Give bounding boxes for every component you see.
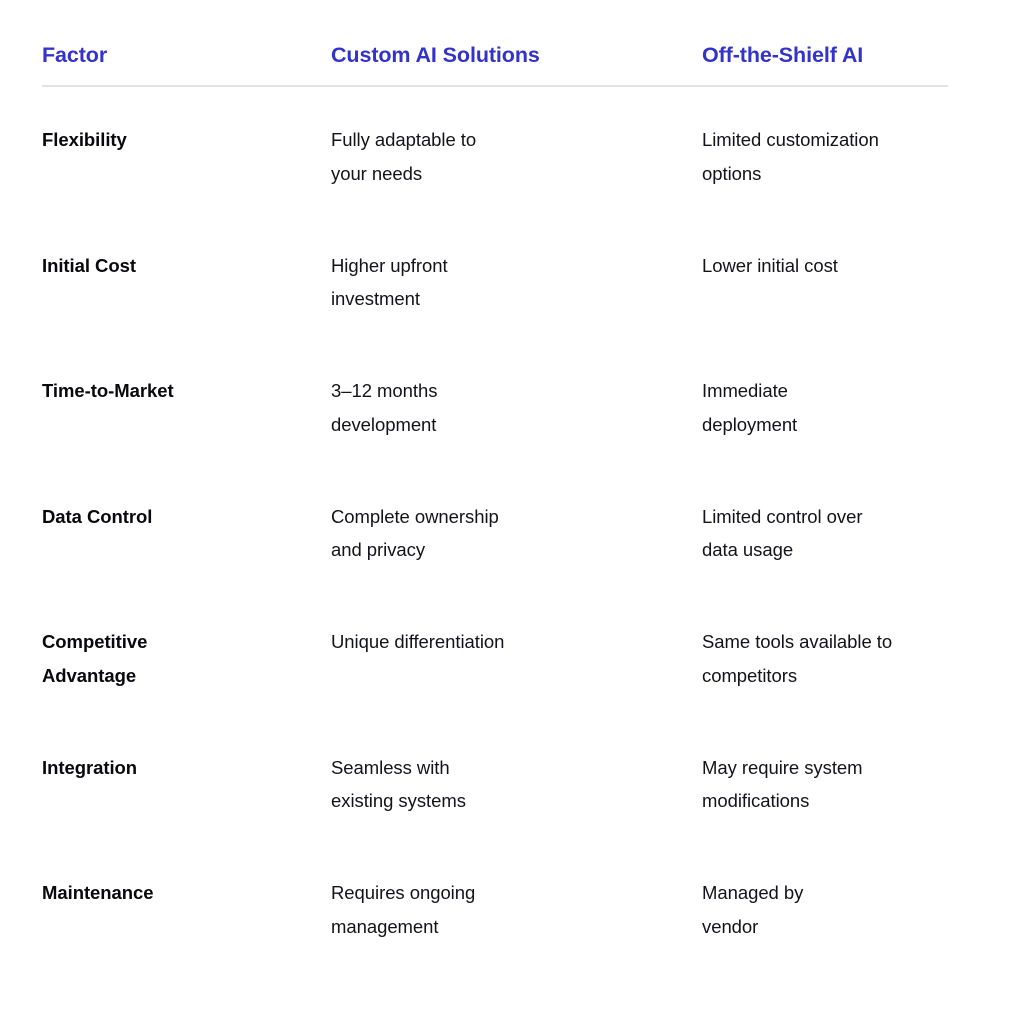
cell-line: and privacy [331, 533, 702, 567]
cell-line: competitors [702, 659, 948, 693]
cell-line: May require system [702, 751, 948, 785]
comparison-table-card: Factor Custom AI Solutions Off-the-Shiel… [0, 0, 1024, 1016]
cell-line: Initial Cost [42, 249, 331, 283]
cell-off-the-shelf-ai: Limited control overdata usage [702, 500, 948, 567]
cell-line: Competitive [42, 625, 331, 659]
cell-line: Immediate [702, 374, 948, 408]
cell-line: Fully adaptable to [331, 123, 702, 157]
cell-line: Limited customization [702, 123, 948, 157]
table-header-row: Factor Custom AI Solutions Off-the-Shiel… [42, 0, 948, 85]
cell-line: options [702, 157, 948, 191]
cell-line: management [331, 910, 702, 944]
table-row: IntegrationSeamless withexisting systems… [42, 751, 948, 877]
cell-factor: Data Control [42, 500, 331, 534]
cell-line: Requires ongoing [331, 876, 702, 910]
cell-line: Higher upfront [331, 249, 702, 283]
cell-factor: CompetitiveAdvantage [42, 625, 331, 692]
cell-line: 3–12 months [331, 374, 702, 408]
column-header-off-the-shelf-ai: Off-the-Shielf AI [702, 41, 948, 69]
comparison-table: Factor Custom AI Solutions Off-the-Shiel… [42, 0, 948, 1002]
cell-line: Integration [42, 751, 331, 785]
cell-line: Data Control [42, 500, 331, 534]
table-body: FlexibilityFully adaptable toyour needsL… [42, 87, 948, 1002]
column-header-factor: Factor [42, 41, 331, 69]
table-row: CompetitiveAdvantageUnique differentiati… [42, 625, 948, 751]
table-row: Time-to-Market3–12 monthsdevelopmentImme… [42, 374, 948, 500]
table-row: Data ControlComplete ownershipand privac… [42, 500, 948, 626]
cell-line: Maintenance [42, 876, 331, 910]
cell-custom-ai-solutions: Requires ongoingmanagement [331, 876, 702, 943]
cell-line: investment [331, 282, 702, 316]
cell-custom-ai-solutions: Higher upfrontinvestment [331, 249, 702, 316]
cell-factor: Flexibility [42, 123, 331, 157]
cell-line: Lower initial cost [702, 249, 948, 283]
cell-factor: Initial Cost [42, 249, 331, 283]
cell-line: Same tools available to [702, 625, 948, 659]
cell-line: Seamless with [331, 751, 702, 785]
cell-line: development [331, 408, 702, 442]
cell-factor: Time-to-Market [42, 374, 331, 408]
cell-line: Limited control over [702, 500, 948, 534]
table-row: MaintenanceRequires ongoingmanagementMan… [42, 876, 948, 1002]
column-header-custom-ai-solutions: Custom AI Solutions [331, 41, 702, 69]
cell-off-the-shelf-ai: Same tools available tocompetitors [702, 625, 948, 692]
cell-off-the-shelf-ai: May require systemmodifications [702, 751, 948, 818]
cell-line: your needs [331, 157, 702, 191]
cell-custom-ai-solutions: Complete ownershipand privacy [331, 500, 702, 567]
cell-custom-ai-solutions: Unique differentiation [331, 625, 702, 659]
table-row: Initial CostHigher upfrontinvestmentLowe… [42, 249, 948, 375]
cell-off-the-shelf-ai: Lower initial cost [702, 249, 948, 283]
cell-line: Flexibility [42, 123, 331, 157]
cell-line: Unique differentiation [331, 625, 702, 659]
cell-line: Advantage [42, 659, 331, 693]
table-row: FlexibilityFully adaptable toyour needsL… [42, 123, 948, 249]
cell-custom-ai-solutions: Fully adaptable toyour needs [331, 123, 702, 190]
cell-custom-ai-solutions: 3–12 monthsdevelopment [331, 374, 702, 441]
cell-line: vendor [702, 910, 948, 944]
cell-line: data usage [702, 533, 948, 567]
cell-off-the-shelf-ai: Immediatedeployment [702, 374, 948, 441]
cell-line: Complete ownership [331, 500, 702, 534]
cell-off-the-shelf-ai: Managed byvendor [702, 876, 948, 943]
cell-line: existing systems [331, 784, 702, 818]
cell-factor: Integration [42, 751, 331, 785]
cell-line: modifications [702, 784, 948, 818]
cell-factor: Maintenance [42, 876, 331, 910]
cell-custom-ai-solutions: Seamless withexisting systems [331, 751, 702, 818]
cell-line: Managed by [702, 876, 948, 910]
cell-line: Time-to-Market [42, 374, 331, 408]
cell-off-the-shelf-ai: Limited customizationoptions [702, 123, 948, 190]
cell-line: deployment [702, 408, 948, 442]
